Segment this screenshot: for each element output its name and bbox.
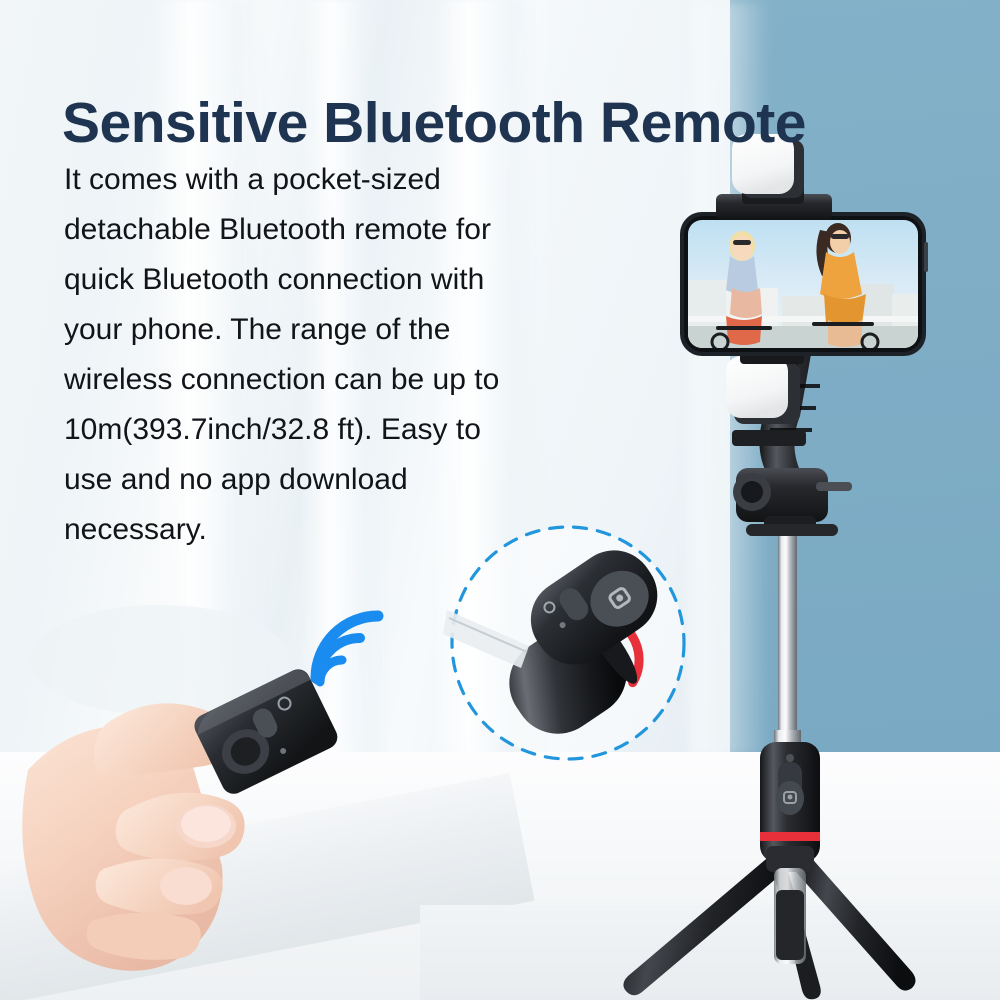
- page-title: Sensitive Bluetooth Remote: [62, 94, 962, 154]
- tripod-handle: [760, 742, 820, 862]
- screen-railing: [688, 316, 918, 322]
- body-line: quick Bluetooth connection with: [64, 255, 604, 305]
- tripod-legs: [623, 846, 915, 999]
- detachable-remote-callout: [443, 518, 693, 768]
- hand-holding-remote: [10, 620, 370, 1000]
- body-line: detachable Bluetooth remote for: [64, 205, 604, 255]
- handle-red-ring: [760, 832, 820, 841]
- body-line: necessary.: [64, 505, 604, 555]
- tripod-leg-left: [623, 854, 784, 995]
- body-line: your phone. The range of the: [64, 305, 604, 355]
- body-line: use and no app download: [64, 455, 604, 505]
- body-line: It comes with a pocket-sized: [64, 155, 604, 205]
- gimbal-pivot-joint: [733, 468, 852, 536]
- smartphone: [680, 212, 928, 356]
- product-marketing-image: Sensitive Bluetooth Remote It comes with…: [0, 0, 1000, 1000]
- led-fill-light-lower: [726, 356, 806, 446]
- phone-screen: [688, 220, 918, 350]
- phone-side-button: [924, 242, 928, 272]
- body-line: wireless connection can be up to: [64, 355, 604, 405]
- body-line: 10m(393.7inch/32.8 ft). Easy to: [64, 405, 604, 455]
- telescoping-pole-upper: [778, 520, 797, 750]
- body-paragraph: It comes with a pocket-sized detachable …: [64, 155, 604, 555]
- middle-nail: [160, 867, 212, 905]
- power-indicator: [786, 754, 794, 762]
